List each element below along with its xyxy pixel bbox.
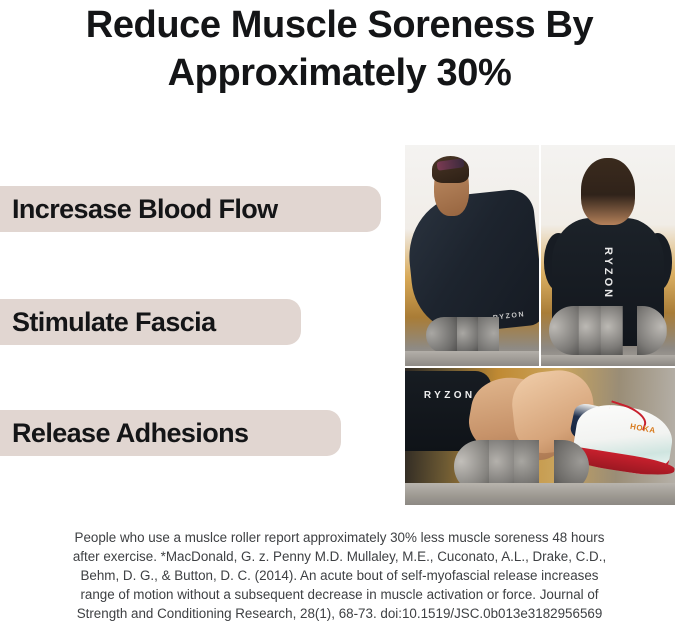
athlete-head-shape [581,158,635,224]
footnote-line-1: People who use a muslce roller report ap… [18,528,661,547]
photo-collage: RYZON RYZON RYZON HOKA [405,145,675,505]
benefit-label: Incresase Blood Flow [12,196,278,223]
massage-roller-shape [426,317,520,352]
footnote-line-4: range of motion without a subsequent dec… [18,585,661,604]
photo-athlete-back-view: RYZON [541,145,675,366]
benefit-pill-release-adhesions: Release Adhesions [0,410,341,456]
photo-athlete-side-view: RYZON [405,145,539,366]
photo-legs-and-shoe: RYZON HOKA [405,368,675,505]
headline-line-2: Approximately 30% [0,50,679,98]
massage-roller-shape [549,306,667,355]
infographic-page: Reduce Muscle Soreness By Approximately … [0,0,679,631]
benefit-label: Stimulate Fascia [12,309,216,336]
headline-line-1: Reduce Muscle Soreness By [0,2,679,50]
shorts-brand-text: RYZON [424,390,476,401]
benefit-label: Release Adhesions [12,420,248,447]
ground-shape [405,351,539,366]
page-title: Reduce Muscle Soreness By Approximately … [0,2,679,98]
kit-brand-text: RYZON [602,247,614,300]
ground-shape [541,355,675,366]
ground-shape [405,483,675,505]
benefit-pill-increase-blood-flow: Incresase Blood Flow [0,186,381,232]
footnote-line-5: Strength and Conditioning Research, 28(1… [18,604,661,623]
footnote-line-3: Behm, D. G., & Button, D. C. (2014). An … [18,566,661,585]
benefit-pill-stimulate-fascia: Stimulate Fascia [0,299,301,345]
footnote-citation: People who use a muslce roller report ap… [18,528,661,623]
footnote-line-2: after exercise. *MacDonald, G. z. Penny … [18,547,661,566]
